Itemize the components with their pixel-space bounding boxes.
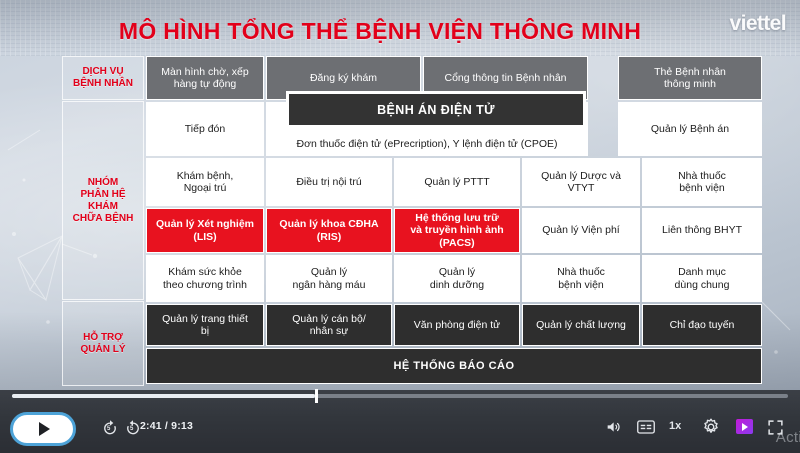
module-blood-bank: Quản lý ngân hàng máu: [266, 255, 392, 302]
cast-button[interactable]: [736, 419, 753, 434]
category-patient-services: DỊCH VỤ BỆNH NHÂN: [62, 56, 144, 100]
time-display: 2:41 / 9:13: [140, 420, 193, 432]
category-management-support: HỖ TRỢ QUẢN LÝ: [62, 301, 144, 386]
progress-handle[interactable]: [315, 389, 318, 403]
module-inpatient: Điều trị nội trú: [266, 158, 392, 206]
module-medical-record-management: Quản lý Bệnh án: [618, 102, 762, 156]
captions-button[interactable]: [637, 420, 655, 434]
volume-button[interactable]: [604, 419, 622, 435]
module-directive-line: Chỉ đạo tuyến: [642, 304, 762, 346]
settings-button[interactable]: [702, 418, 720, 436]
module-grid: Màn hình chờ, xếp hàng tự động Đăng ký k…: [146, 56, 762, 386]
module-health-checkup-program: Khám sức khỏe theo chương trình: [146, 255, 264, 302]
module-surgery: Quản lý PTTT: [394, 158, 520, 206]
module-equipment-management: Quản lý trang thiết bị: [146, 304, 264, 346]
module-lis: Quản lý Xét nghiệm (LIS): [146, 208, 264, 253]
forward-seconds-label: 5: [130, 426, 133, 432]
module-hospital-drugstore-1: Nhà thuốc bệnh viện: [642, 158, 762, 206]
module-e-office: Văn phòng điện tử: [394, 304, 520, 346]
viettel-logo: viettel: [730, 12, 787, 36]
captions-icon: [637, 420, 655, 434]
progress-played: [12, 394, 315, 398]
module-insurance-link: Liên thông BHYT: [642, 208, 762, 253]
architecture-diagram: DỊCH VỤ BỆNH NHÂN NHÓM PHÂN HỆ KHÁM CHỮA…: [62, 56, 762, 386]
volume-icon: [604, 419, 622, 435]
gear-icon: [702, 418, 720, 436]
module-shared-catalog: Danh mục dùng chung: [642, 255, 762, 302]
cast-play-icon: [742, 423, 748, 431]
play-button[interactable]: [10, 412, 76, 446]
progress-bar[interactable]: [12, 394, 788, 398]
module-billing: Quản lý Viện phí: [522, 208, 640, 253]
slide-title: MÔ HÌNH TỔNG THỂ BỆNH VIỆN THÔNG MINH: [0, 18, 760, 45]
report-system-bar: HỆ THỐNG BÁO CÁO: [146, 348, 762, 384]
module-nutrition: Quản lý dinh dưỡng: [394, 255, 520, 302]
video-player: MÔ HÌNH TỔNG THỂ BỆNH VIỆN THÔNG MINH vi…: [0, 0, 800, 453]
module-hospital-drugstore-2: Nhà thuốc bệnh viện: [522, 255, 640, 302]
module-smart-patient-card: Thẻ Bệnh nhân thông minh: [618, 56, 762, 100]
module-reception: Tiếp đón: [146, 102, 264, 156]
activation-watermark: Acti: [776, 429, 800, 446]
rewind-seconds-label: 5: [107, 426, 110, 432]
category-clinical-modules: NHÓM PHÂN HỆ KHÁM CHỮA BỆNH: [62, 101, 144, 300]
category-column: DỊCH VỤ BỆNH NHÂN NHÓM PHÂN HỆ KHÁM CHỮA…: [62, 56, 144, 386]
module-pharmacy-supplies: Quản lý Dược và VTYT: [522, 158, 640, 206]
slide-canvas: MÔ HÌNH TỔNG THỂ BỆNH VIỆN THÔNG MINH vi…: [0, 0, 800, 390]
module-quality-management: Quản lý chất lượng: [522, 304, 640, 346]
module-outpatient: Khám bệnh, Ngoại trú: [146, 158, 264, 206]
module-waiting-screen: Màn hình chờ, xếp hàng tự động: [146, 56, 264, 100]
module-ris: Quản lý khoa CĐHA (RIS): [266, 208, 392, 253]
module-pacs: Hệ thống lưu trữ và truyền hình ảnh (PAC…: [394, 208, 520, 253]
emr-banner: BỆNH ÁN ĐIỆN TỬ: [286, 91, 586, 128]
play-icon: [39, 422, 50, 436]
playback-speed-button[interactable]: 1x: [669, 420, 681, 432]
module-hr-management: Quản lý cán bộ/ nhân sự: [266, 304, 392, 346]
